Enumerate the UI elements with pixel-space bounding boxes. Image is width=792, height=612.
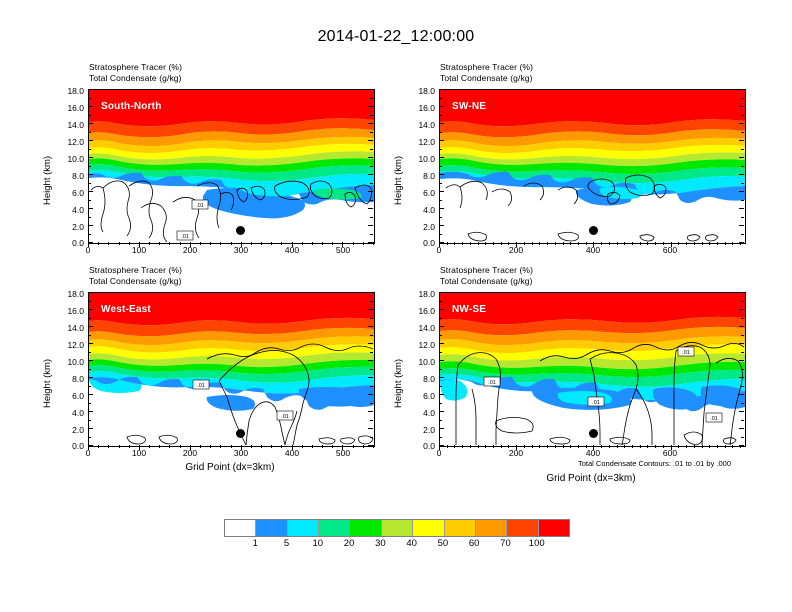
y-tick-mark <box>439 183 442 184</box>
y-tick-mark <box>368 106 373 107</box>
y-tick-mark <box>741 369 744 370</box>
y-tick-mark <box>439 403 442 404</box>
x-tick-mark <box>671 445 672 450</box>
y-tick-mark <box>439 98 442 99</box>
y-tick-mark <box>370 369 373 370</box>
y-tick-mark <box>368 309 373 310</box>
y-tick-mark <box>739 309 744 310</box>
x-tick-mark <box>493 445 494 448</box>
header-line-tracer: Stratosphere Tracer (%) <box>440 62 533 73</box>
y-tick-mark <box>88 420 91 421</box>
y-tick-mark <box>88 360 93 361</box>
tracer-field-2 <box>440 90 745 243</box>
x-tick-mark <box>159 445 160 448</box>
y-tick-mark <box>370 217 373 218</box>
y-tick-label: 12.0 <box>397 137 435 147</box>
y-tick-mark <box>88 292 93 293</box>
x-tick-mark <box>447 242 448 245</box>
x-tick-mark <box>485 445 486 448</box>
y-tick-mark <box>741 183 744 184</box>
y-tick-label: 14.0 <box>46 323 84 333</box>
colorbar-swatch <box>507 520 538 536</box>
y-tick-mark <box>370 301 373 302</box>
y-tick-mark <box>439 166 442 167</box>
y-tick-mark <box>368 326 373 327</box>
location-marker-2 <box>589 226 598 235</box>
x-tick-mark <box>617 242 618 245</box>
panel-label-4: NW-SE <box>452 304 486 315</box>
x-tick-mark <box>601 445 602 448</box>
y-tick-mark <box>370 403 373 404</box>
x-axis-title-3: Grid Point (dx=3km) <box>140 462 320 473</box>
y-tick-mark <box>368 428 373 429</box>
x-tick-mark <box>609 242 610 245</box>
x-tick-mark <box>709 242 710 245</box>
y-tick-mark <box>741 301 744 302</box>
x-tick-mark <box>694 242 695 245</box>
x-tick-mark <box>210 242 211 245</box>
x-tick-mark <box>647 242 648 245</box>
x-tick-mark <box>725 445 726 448</box>
x-tick-mark <box>281 445 282 448</box>
x-tick-mark <box>570 242 571 245</box>
panel-header-1: Stratosphere Tracer (%) Total Condensate… <box>89 62 182 83</box>
x-tick-mark <box>501 242 502 245</box>
y-tick-mark <box>88 217 91 218</box>
y-tick-mark <box>741 335 744 336</box>
y-tick-mark <box>741 166 744 167</box>
x-tick-mark <box>593 445 594 450</box>
y-tick-mark <box>439 191 444 192</box>
header-line-tracer: Stratosphere Tracer (%) <box>89 265 182 276</box>
y-tick-mark <box>370 234 373 235</box>
y-tick-mark <box>739 225 744 226</box>
y-tick-mark <box>439 386 442 387</box>
x-tick-mark <box>108 242 109 245</box>
x-tick-mark <box>686 242 687 245</box>
y-tick-mark <box>88 166 91 167</box>
y-tick-mark <box>741 403 744 404</box>
svg-text:.01: .01 <box>592 400 600 406</box>
y-tick-mark <box>739 89 744 90</box>
y-tick-mark <box>739 123 744 124</box>
x-tick-mark <box>373 242 374 245</box>
x-tick-mark <box>493 242 494 245</box>
x-tick-mark <box>547 242 548 245</box>
colorbar <box>224 519 570 537</box>
x-tick-mark <box>292 445 293 450</box>
y-axis-title-4: Height (km) <box>393 359 404 408</box>
y-tick-label: 18.0 <box>397 86 435 96</box>
y-tick-mark <box>439 428 444 429</box>
colorbar-swatch <box>476 520 507 536</box>
colorbar-tick-label: 40 <box>398 538 426 549</box>
y-tick-mark <box>739 343 744 344</box>
x-tick-mark <box>655 242 656 245</box>
x-axis-title-4: Grid Point (dx=3km) <box>501 473 681 484</box>
x-tick-mark <box>678 445 679 448</box>
x-tick-mark <box>694 445 695 448</box>
x-tick-mark <box>732 445 733 448</box>
header-line-condensate: Total Condensate (g/kg) <box>440 73 533 84</box>
header-line-condensate: Total Condensate (g/kg) <box>440 276 533 287</box>
x-tick-mark <box>363 445 364 448</box>
y-tick-mark <box>368 89 373 90</box>
y-tick-mark <box>739 377 744 378</box>
x-tick-mark <box>647 445 648 448</box>
x-tick-mark <box>678 242 679 245</box>
y-tick-mark <box>370 132 373 133</box>
panel-label-2: SW-NE <box>452 101 486 112</box>
y-tick-mark <box>368 292 373 293</box>
y-tick-mark <box>88 411 93 412</box>
x-tick-mark <box>159 242 160 245</box>
y-tick-mark <box>439 445 444 446</box>
x-tick-mark <box>169 242 170 245</box>
y-tick-label: 18.0 <box>46 86 84 96</box>
x-tick-mark <box>220 242 221 245</box>
y-tick-mark <box>368 123 373 124</box>
y-tick-mark <box>439 123 444 124</box>
plot-area-4[interactable]: .01 .01 .01 .01 NW-SE <box>439 292 746 447</box>
x-tick-mark <box>609 445 610 448</box>
location-marker-3 <box>236 429 245 438</box>
x-tick-mark <box>732 242 733 245</box>
x-tick-mark <box>180 445 181 448</box>
y-tick-mark <box>439 411 444 412</box>
x-tick-mark <box>251 445 252 448</box>
y-tick-mark <box>368 208 373 209</box>
y-tick-mark <box>439 343 444 344</box>
y-tick-mark <box>370 437 373 438</box>
panel-label-3: West-East <box>101 304 151 315</box>
y-tick-mark <box>88 200 91 201</box>
y-tick-mark <box>739 140 744 141</box>
y-tick-mark <box>370 386 373 387</box>
y-tick-mark <box>439 437 442 438</box>
y-tick-mark <box>370 166 373 167</box>
y-tick-mark <box>439 225 444 226</box>
x-tick-mark <box>271 445 272 448</box>
y-tick-mark <box>739 106 744 107</box>
x-tick-mark <box>129 242 130 245</box>
y-tick-mark <box>439 420 442 421</box>
y-tick-mark <box>88 352 91 353</box>
y-tick-mark <box>439 174 444 175</box>
y-tick-mark <box>741 149 744 150</box>
y-tick-mark <box>370 420 373 421</box>
x-tick-mark <box>501 445 502 448</box>
x-tick-mark <box>119 242 120 245</box>
y-tick-mark <box>368 360 373 361</box>
x-tick-mark <box>632 445 633 448</box>
x-tick-mark <box>555 445 556 448</box>
y-tick-mark <box>368 394 373 395</box>
y-tick-label: 4.0 <box>397 408 435 418</box>
x-tick-mark <box>241 242 242 247</box>
x-tick-mark <box>353 445 354 448</box>
x-tick-mark <box>617 445 618 448</box>
y-tick-mark <box>370 115 373 116</box>
y-tick-mark <box>88 191 93 192</box>
y-tick-label: 16.0 <box>397 306 435 316</box>
y-tick-mark <box>739 157 744 158</box>
y-tick-mark <box>88 132 91 133</box>
x-tick-mark <box>524 242 525 245</box>
x-tick-mark <box>478 242 479 245</box>
figure-title: 2014-01-22_12:00:00 <box>0 28 792 46</box>
x-tick-mark <box>119 445 120 448</box>
y-tick-mark <box>370 318 373 319</box>
x-tick-mark <box>478 445 479 448</box>
y-tick-mark <box>88 149 91 150</box>
y-tick-mark <box>439 301 442 302</box>
x-tick-mark <box>200 445 201 448</box>
y-tick-mark <box>739 174 744 175</box>
y-tick-label: 12.0 <box>397 340 435 350</box>
y-tick-mark <box>88 157 93 158</box>
y-tick-mark <box>370 149 373 150</box>
x-tick-mark <box>516 445 517 450</box>
y-tick-mark <box>88 115 91 116</box>
x-tick-mark <box>312 445 313 448</box>
y-tick-mark <box>88 234 91 235</box>
x-tick-mark <box>686 445 687 448</box>
y-tick-mark <box>370 98 373 99</box>
x-tick-mark <box>563 445 564 448</box>
x-tick-mark <box>332 445 333 448</box>
x-tick-mark <box>373 445 374 448</box>
y-axis-title-1: Height (km) <box>42 156 53 205</box>
x-tick-mark <box>655 445 656 448</box>
y-tick-mark <box>368 174 373 175</box>
header-line-tracer: Stratosphere Tracer (%) <box>89 62 182 73</box>
x-tick-mark <box>332 242 333 245</box>
y-tick-mark <box>88 301 91 302</box>
x-tick-mark <box>261 242 262 245</box>
location-marker-4 <box>589 429 598 438</box>
x-tick-mark <box>149 445 150 448</box>
x-tick-mark <box>98 242 99 245</box>
y-tick-mark <box>741 352 744 353</box>
colorbar-tick-label: 50 <box>429 538 457 549</box>
x-tick-mark <box>725 242 726 245</box>
colorbar-swatch <box>350 520 381 536</box>
y-tick-mark <box>439 106 444 107</box>
y-tick-mark <box>739 242 744 243</box>
x-tick-mark <box>671 242 672 247</box>
x-tick-mark <box>149 242 150 245</box>
x-tick-mark <box>563 242 564 245</box>
y-tick-mark <box>368 191 373 192</box>
x-tick-mark <box>624 445 625 448</box>
y-tick-mark <box>88 437 91 438</box>
y-tick-mark <box>741 217 744 218</box>
x-tick-mark <box>312 242 313 245</box>
y-tick-mark <box>88 369 91 370</box>
svg-text:.01: .01 <box>196 203 204 209</box>
y-tick-mark <box>439 326 444 327</box>
x-tick-mark <box>322 445 323 448</box>
x-tick-mark <box>462 445 463 448</box>
y-tick-mark <box>739 394 744 395</box>
y-tick-mark <box>439 242 444 243</box>
y-tick-mark <box>88 335 91 336</box>
x-tick-mark <box>470 445 471 448</box>
y-tick-mark <box>88 343 93 344</box>
x-tick-mark <box>524 445 525 448</box>
y-tick-label: 14.0 <box>397 323 435 333</box>
y-tick-mark <box>88 98 91 99</box>
x-tick-mark <box>292 242 293 247</box>
figure-canvas: 2014-01-22_12:00:00 Stratosphere Tracer … <box>0 0 792 612</box>
svg-text:.01: .01 <box>488 380 496 386</box>
x-tick-mark <box>555 242 556 245</box>
colorbar-swatch <box>413 520 444 536</box>
y-axis-title-3: Height (km) <box>42 359 53 408</box>
y-tick-label: 16.0 <box>397 103 435 113</box>
y-tick-mark <box>439 309 444 310</box>
header-line-condensate: Total Condensate (g/kg) <box>89 73 182 84</box>
x-tick-mark <box>454 242 455 245</box>
y-tick-label: 4.0 <box>397 205 435 215</box>
y-tick-mark <box>439 132 442 133</box>
y-tick-mark <box>88 309 93 310</box>
y-tick-mark <box>439 352 442 353</box>
x-tick-mark <box>663 445 664 448</box>
x-tick-mark <box>169 445 170 448</box>
x-tick-mark <box>702 445 703 448</box>
x-tick-mark <box>342 445 343 450</box>
x-tick-mark <box>231 445 232 448</box>
svg-text:.01: .01 <box>181 234 189 240</box>
y-tick-mark <box>439 208 444 209</box>
x-tick-mark <box>462 242 463 245</box>
y-tick-label: 18.0 <box>397 289 435 299</box>
y-tick-mark <box>88 208 93 209</box>
x-tick-mark <box>624 242 625 245</box>
plot-area-1[interactable]: .01 .01 South-North <box>88 89 375 244</box>
x-tick-mark <box>640 445 641 448</box>
y-tick-mark <box>741 200 744 201</box>
y-tick-mark <box>439 140 444 141</box>
y-tick-mark <box>88 403 91 404</box>
y-tick-mark <box>368 411 373 412</box>
svg-text:.01: .01 <box>197 383 205 389</box>
y-tick-label: 2.0 <box>397 222 435 232</box>
y-tick-mark <box>439 360 444 361</box>
x-tick-mark <box>200 242 201 245</box>
y-tick-mark <box>739 292 744 293</box>
x-tick-mark <box>570 445 571 448</box>
y-tick-mark <box>439 394 444 395</box>
colorbar-swatch <box>319 520 350 536</box>
x-tick-mark <box>508 242 509 245</box>
colorbar-tick-label: 20 <box>335 538 363 549</box>
tracer-field-1: .01 .01 <box>89 90 374 243</box>
y-tick-mark <box>439 89 444 90</box>
colorbar-tick-label: 70 <box>491 538 519 549</box>
y-tick-mark <box>439 217 442 218</box>
x-tick-mark <box>108 445 109 448</box>
x-tick-mark <box>139 242 140 247</box>
x-tick-mark <box>532 242 533 245</box>
x-tick-mark <box>302 445 303 448</box>
colorbar-swatch <box>382 520 413 536</box>
y-tick-mark <box>439 234 442 235</box>
y-tick-mark <box>370 183 373 184</box>
colorbar-swatch <box>539 520 569 536</box>
x-tick-mark <box>363 242 364 245</box>
colorbar-tick-label: 10 <box>304 538 332 549</box>
y-tick-mark <box>439 335 442 336</box>
y-tick-mark <box>88 242 93 243</box>
y-tick-label: 2.0 <box>397 425 435 435</box>
y-tick-mark <box>370 352 373 353</box>
header-line-condensate: Total Condensate (g/kg) <box>89 276 182 287</box>
x-tick-mark <box>578 445 579 448</box>
x-tick-mark <box>508 445 509 448</box>
y-tick-mark <box>739 360 744 361</box>
y-tick-mark <box>88 140 93 141</box>
colorbar-swatch <box>288 520 319 536</box>
plot-area-3[interactable]: .01 .01 West-East <box>88 292 375 447</box>
colorbar-tick-label: 1 <box>241 538 269 549</box>
colorbar-swatch <box>225 520 256 536</box>
y-tick-mark <box>741 386 744 387</box>
x-tick-mark <box>322 242 323 245</box>
x-tick-mark <box>470 242 471 245</box>
y-tick-mark <box>439 369 442 370</box>
y-tick-mark <box>88 106 93 107</box>
panel-header-3: Stratosphere Tracer (%) Total Condensate… <box>89 265 182 286</box>
x-tick-mark <box>241 445 242 450</box>
x-tick-mark <box>702 242 703 245</box>
x-tick-mark <box>447 445 448 448</box>
plot-area-2[interactable]: SW-NE <box>439 89 746 244</box>
x-tick-mark <box>717 445 718 448</box>
y-tick-mark <box>88 445 93 446</box>
x-tick-mark <box>539 445 540 448</box>
x-tick-mark <box>190 242 191 247</box>
y-tick-mark <box>368 343 373 344</box>
x-tick-mark <box>261 445 262 448</box>
colorbar-tick-label: 5 <box>273 538 301 549</box>
y-tick-label: 18.0 <box>46 289 84 299</box>
y-tick-mark <box>368 225 373 226</box>
y-tick-mark <box>88 394 93 395</box>
panel-header-4: Stratosphere Tracer (%) Total Condensate… <box>440 265 533 286</box>
y-tick-mark <box>741 234 744 235</box>
y-tick-mark <box>88 123 93 124</box>
y-tick-mark <box>370 200 373 201</box>
y-tick-mark <box>739 445 744 446</box>
colorbar-swatch <box>445 520 476 536</box>
x-tick-mark <box>139 445 140 450</box>
y-tick-mark <box>741 115 744 116</box>
y-tick-mark <box>739 411 744 412</box>
x-tick-mark <box>180 242 181 245</box>
y-tick-label: 14.0 <box>397 120 435 130</box>
y-tick-mark <box>741 437 744 438</box>
x-tick-mark <box>640 242 641 245</box>
y-tick-mark <box>439 292 444 293</box>
y-tick-mark <box>739 326 744 327</box>
x-tick-mark <box>129 445 130 448</box>
y-tick-mark <box>368 377 373 378</box>
y-tick-mark <box>741 132 744 133</box>
y-tick-mark <box>88 174 93 175</box>
